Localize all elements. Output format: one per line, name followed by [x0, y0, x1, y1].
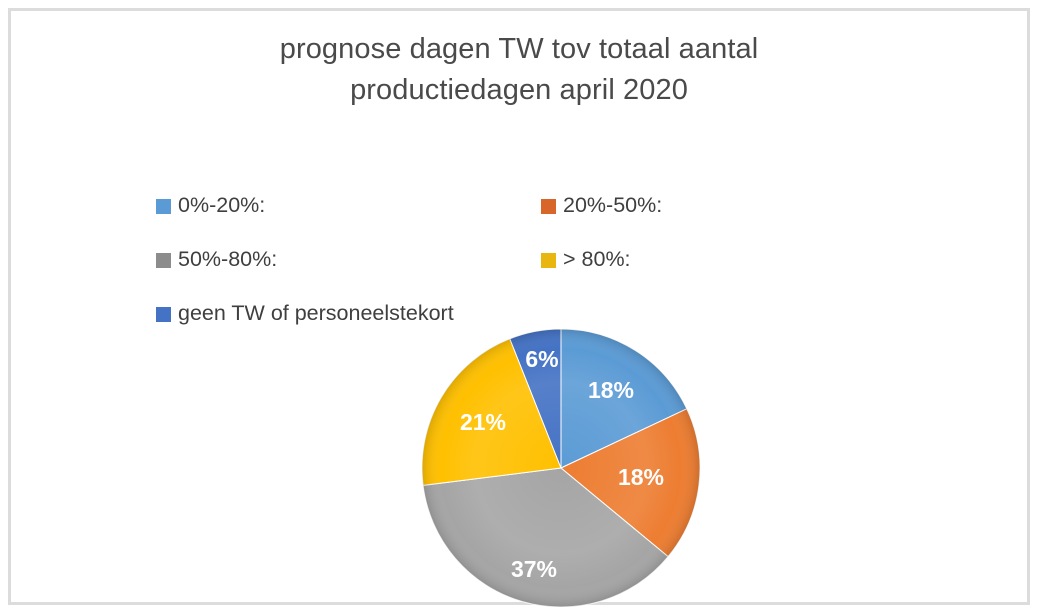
pie-slice-data-label: 6% [525, 346, 558, 372]
legend-row: 50%-80%: > 80%: [156, 233, 716, 287]
legend-row: 0%-20%: 20%-50%: [156, 179, 716, 233]
legend-label-0-20: 0%-20%: [178, 195, 265, 217]
pie-slice-data-label: 18% [618, 464, 664, 490]
pie-slice-data-label: 37% [511, 556, 557, 582]
pie-chart-svg: 18%18%37%21%6% [415, 322, 707, 614]
legend-swatch-20-50-icon [541, 199, 556, 214]
pie-chart: 18%18%37%21%6% [415, 322, 707, 614]
legend-item-20-50[interactable]: 20%-50%: [541, 179, 662, 233]
legend-label-gt-80: > 80%: [563, 249, 631, 271]
legend-label-20-50: 20%-50%: [563, 195, 662, 217]
chart-container: prognose dagen TW tov totaal aantal prod… [8, 8, 1030, 605]
pie-slice-data-label: 21% [460, 409, 506, 435]
legend-swatch-gt-80-icon [541, 253, 556, 268]
legend-swatch-geen-tw-icon [156, 307, 171, 322]
legend-label-50-80: 50%-80%: [178, 249, 277, 271]
legend-swatch-0-20-icon [156, 199, 171, 214]
legend-label-geen-tw: geen TW of personeelstekort [178, 303, 454, 325]
legend-item-50-80[interactable]: 50%-80%: [156, 233, 541, 287]
chart-legend: 0%-20%: 20%-50%: 50%-80%: > 80%: geen TW… [156, 179, 716, 341]
pie-slice-data-label: 18% [588, 377, 634, 403]
legend-swatch-50-80-icon [156, 253, 171, 268]
chart-title: prognose dagen TW tov totaal aantal prod… [11, 29, 1027, 111]
legend-item-gt-80[interactable]: > 80%: [541, 233, 631, 287]
legend-item-0-20[interactable]: 0%-20%: [156, 179, 541, 233]
